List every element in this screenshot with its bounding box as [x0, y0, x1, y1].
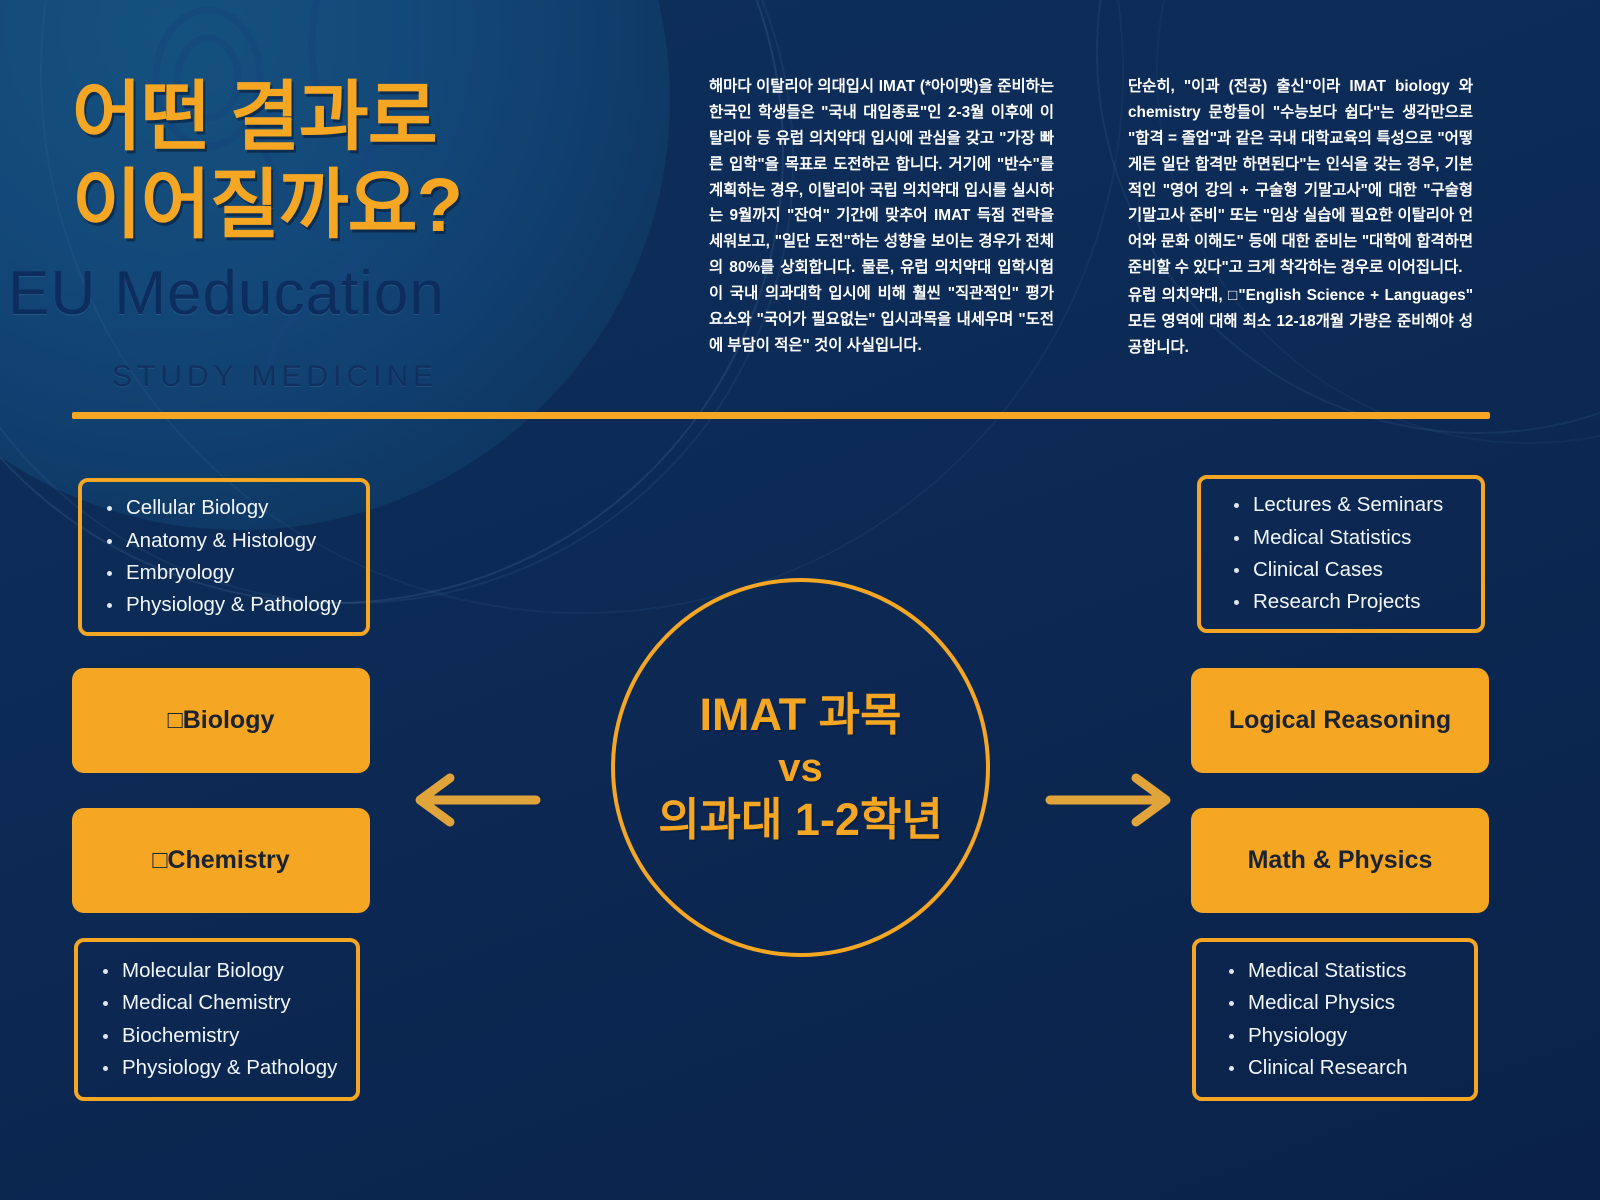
imat-chemistry-topics-box: Molecular Biology Medical Chemistry Bioc… [74, 938, 360, 1101]
arrow-right-icon [1042, 770, 1182, 830]
subject-card-logical-reasoning[interactable]: Logical Reasoning [1191, 668, 1489, 773]
subject-card-chemistry[interactable]: □Chemistry [72, 808, 370, 913]
center-comparison-circle: IMAT 과목 vs 의과대 1-2학년 [611, 578, 990, 957]
infographic-page: 어떤 결과로 이어질까요? EU Meducation STUDY MEDICI… [0, 0, 1600, 1200]
list-item: Molecular Biology [122, 955, 356, 987]
subject-card-biology[interactable]: □Biology [72, 668, 370, 773]
center-line-2: vs [778, 741, 823, 795]
list-item: Medical Physics [1248, 987, 1474, 1019]
list-item: Medical Statistics [1253, 522, 1481, 554]
imat-biology-topics-box: Cellular Biology Anatomy & Histology Emb… [78, 478, 370, 636]
medschool-lecture-topics-box: Lectures & Seminars Medical Statistics C… [1197, 475, 1485, 633]
list-item: Physiology & Pathology [122, 1052, 356, 1084]
header-divider [72, 412, 1490, 419]
list-item: Physiology [1248, 1020, 1474, 1052]
list-item: Lectures & Seminars [1253, 489, 1481, 521]
list-item: Clinical Cases [1253, 554, 1481, 586]
arrow-left-icon [404, 770, 544, 830]
list-item: Anatomy & Histology [126, 525, 366, 557]
paragraph: 해마다 이탈리아 의대입시 IMAT (*아이맷)을 준비하는 한국인 학생들은… [709, 74, 1054, 359]
center-line-1: IMAT 과목 [700, 690, 902, 740]
topic-list: Molecular Biology Medical Chemistry Bioc… [78, 955, 356, 1085]
medschool-science-topics-box: Medical Statistics Medical Physics Physi… [1192, 938, 1478, 1101]
center-line-3: 의과대 1-2학년 [658, 795, 943, 845]
topic-list: Medical Statistics Medical Physics Physi… [1196, 955, 1474, 1085]
list-item: Medical Chemistry [122, 987, 356, 1019]
list-item: Medical Statistics [1248, 955, 1474, 987]
subject-card-math-physics[interactable]: Math & Physics [1191, 808, 1489, 913]
paragraph: 유럽 의치약대, □"English Science + Languages" … [1128, 283, 1473, 361]
list-item: Embryology [126, 557, 366, 589]
page-title: 어떤 결과로 이어질까요? [72, 74, 672, 250]
list-item: Cellular Biology [126, 492, 366, 524]
brand-watermark: EU Meducation [8, 258, 445, 329]
intro-paragraph-left: 해마다 이탈리아 의대입시 IMAT (*아이맷)을 준비하는 한국인 학생들은… [709, 74, 1054, 359]
list-item: Clinical Research [1248, 1052, 1474, 1084]
intro-paragraph-right: 단순히, "이과 (전공) 출신"이라 IMAT biology 와 chemi… [1128, 74, 1473, 361]
list-item: Research Projects [1253, 586, 1481, 618]
topic-list: Cellular Biology Anatomy & Histology Emb… [82, 492, 366, 622]
topic-list: Lectures & Seminars Medical Statistics C… [1201, 489, 1481, 619]
list-item: Biochemistry [122, 1020, 356, 1052]
list-item: Physiology & Pathology [126, 589, 366, 621]
paragraph: 단순히, "이과 (전공) 출신"이라 IMAT biology 와 chemi… [1128, 74, 1473, 281]
brand-watermark-subtitle: STUDY MEDICINE [112, 360, 438, 394]
